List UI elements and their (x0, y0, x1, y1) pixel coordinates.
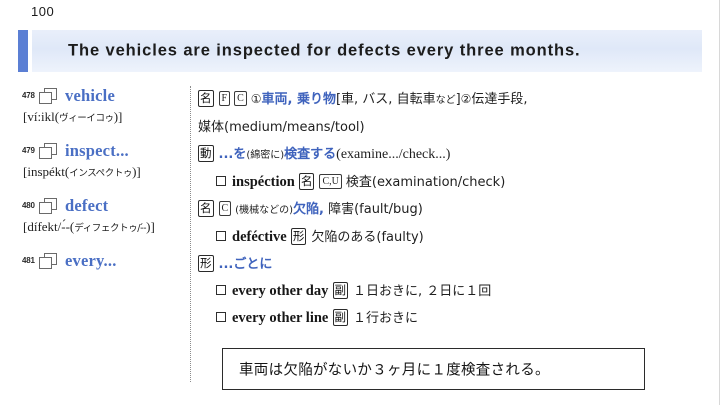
definition-line: 名C(機械などの)欠陥, 障害(fault/bug) (198, 196, 708, 224)
pron-ipa: [inspékt( (23, 164, 69, 179)
pron-ipa: [dífekt/-́-( (23, 219, 74, 234)
sub-entry-every-other-day: every other day 副１日おきに, ２日に１回 (198, 278, 708, 305)
sub-entry-word: every other day (232, 283, 328, 299)
pos-badge-noun: 名 (198, 200, 214, 217)
sub-entry-defective: deféctive 形欠陥のある(faulty) (198, 224, 708, 251)
checkbox-icon[interactable] (216, 312, 226, 322)
sub-entry-word: every other line (232, 310, 328, 326)
pron-katakana: ディフェクトゥ/-́- (74, 223, 146, 234)
definition-main-japanese: ...ごとに (219, 257, 273, 272)
sense-1-examples-suffix: など (436, 95, 456, 106)
pron-close: )] (132, 164, 141, 179)
sub-entry-inspection: inspéction 名C,U検査(examination/check) (198, 169, 708, 196)
entry-number: 479 (22, 146, 35, 155)
word-headword[interactable]: vehicle (65, 86, 115, 106)
page-number: 100 (31, 4, 54, 19)
pron-katakana: インスペクトゥ (69, 168, 132, 179)
grammar-badge-f: F (219, 91, 231, 106)
definition-main-a: ...を (219, 147, 247, 162)
pos-badge-adverb: 副 (333, 309, 349, 326)
word-entry-inspect[interactable]: 479 inspect... [inspékt(インスペクトゥ)] (22, 141, 186, 196)
word-pronunciation: [dífekt/-́-(ディフェクトゥ/-́-)] (23, 219, 155, 235)
word-entry-defect[interactable]: 480 defect [dífekt/-́-(ディフェクトゥ/-́-)] (22, 196, 186, 251)
word-list-column: 478 vehicle [ví:ikl(ヴィーイコゥ)] 479 inspect… (22, 86, 186, 306)
definition-main-japanese: 欠陥, (293, 202, 324, 217)
entry-number: 478 (22, 91, 35, 100)
sub-entry-word: inspéction (232, 174, 295, 190)
header-accent-bar (18, 30, 28, 72)
definition-block-defect: 名C(機械などの)欠陥, 障害(fault/bug) deféctive 形欠陥… (198, 196, 708, 251)
definition-block-every: 形...ごとに every other day 副１日おきに, ２日に１回 ev… (198, 251, 708, 332)
word-head-row: 479 inspect... (22, 141, 186, 163)
entry-number: 480 (22, 201, 35, 210)
definition-line: 動...を(綿密に)検査する(examine.../check...) (198, 141, 708, 169)
header-sentence-text: The vehicles are inspected for defects e… (68, 42, 581, 61)
checkbox-icon[interactable] (216, 231, 226, 241)
checkbox-icon[interactable] (216, 176, 226, 186)
checkbox-icon[interactable] (216, 285, 226, 295)
word-pronunciation: [ví:ikl(ヴィーイコゥ)] (23, 109, 122, 125)
definition-line-continued: 媒体(medium/means/tool) (198, 114, 708, 141)
sub-entry-japanese: １行おきに (353, 311, 418, 326)
column-divider (190, 86, 191, 382)
pron-close: )] (114, 109, 123, 124)
definition-qualifier: (綿密に) (246, 150, 284, 161)
word-pronunciation: [inspékt(インスペクトゥ)] (23, 164, 141, 180)
definition-block-vehicle: 名FC①車両, 乗り物[車, バス, 自転車など]②伝達手段, 媒体(mediu… (198, 86, 708, 141)
pos-badge-adjective: 形 (198, 255, 214, 272)
textbook-page: 100 The vehicles are inspected for defec… (0, 0, 720, 405)
definition-block-inspect: 動...を(綿密に)検査する(examine.../check...) insp… (198, 141, 708, 196)
word-entry-every[interactable]: 481 every... (22, 251, 186, 306)
pos-badge-noun: 名 (198, 90, 214, 107)
grammar-badge-cu: C,U (319, 174, 341, 189)
pron-close: )] (146, 219, 155, 234)
stacked-cards-icon[interactable] (39, 253, 59, 270)
entry-number: 481 (22, 256, 35, 265)
word-head-row: 481 every... (22, 251, 186, 273)
translation-text: 車両は欠陥がないか３ヶ月に１度検査される。 (239, 359, 550, 380)
grammar-badge-c: C (234, 91, 247, 106)
definition-qualifier: (機械などの) (235, 205, 293, 216)
grammar-badge-c: C (219, 201, 232, 216)
word-head-row: 480 defect (22, 196, 186, 218)
sense-1-japanese: 車両, 乗り物 (262, 92, 336, 107)
header-sentence-band: The vehicles are inspected for defects e… (18, 30, 702, 72)
pos-badge-adverb: 副 (333, 282, 349, 299)
definition-english-gloss: (examine.../check...) (336, 147, 450, 162)
pos-badge-adjective: 形 (291, 228, 307, 245)
definition-line: 名FC①車両, 乗り物[車, バス, 自転車など]②伝達手段, (198, 86, 708, 114)
sub-entry-japanese: 検査(examination/check) (346, 175, 505, 190)
stacked-cards-icon[interactable] (39, 198, 59, 215)
definition-column: 名FC①車両, 乗り物[車, バス, 自転車など]②伝達手段, 媒体(mediu… (198, 86, 708, 332)
sub-entry-japanese: 欠陥のある(faulty) (311, 230, 423, 245)
sub-entry-word: deféctive (232, 229, 287, 245)
word-head-row: 478 vehicle (22, 86, 186, 108)
stacked-cards-icon[interactable] (39, 88, 59, 105)
pos-badge-noun: 名 (299, 173, 315, 190)
translation-box: 車両は欠陥がないか３ヶ月に１度検査される。 (222, 348, 645, 390)
sub-entry-every-other-line: every other line 副１行おきに (198, 305, 708, 332)
sense-number-1: ① (251, 92, 262, 106)
definition-line: 形...ごとに (198, 251, 708, 278)
definition-rest: 障害(fault/bug) (328, 202, 423, 217)
word-headword[interactable]: every... (65, 251, 117, 271)
word-headword[interactable]: defect (65, 196, 108, 216)
definition-main-b: 検査する (284, 147, 336, 162)
header-sentence-box: The vehicles are inspected for defects e… (32, 30, 702, 72)
stacked-cards-icon[interactable] (39, 143, 59, 160)
pron-ipa: [ví:ikl( (23, 109, 59, 124)
pos-badge-verb: 動 (198, 145, 214, 162)
sense-number-2: ② (461, 92, 472, 106)
sense-2-japanese: 伝達手段, (471, 92, 527, 107)
pron-katakana: ヴィーイコゥ (59, 113, 114, 124)
word-headword[interactable]: inspect... (65, 141, 129, 161)
sense-1-examples: [車, バス, 自転車 (336, 92, 436, 107)
word-entry-vehicle[interactable]: 478 vehicle [ví:ikl(ヴィーイコゥ)] (22, 86, 186, 141)
sub-entry-japanese: １日おきに, ２日に１回 (353, 284, 491, 299)
